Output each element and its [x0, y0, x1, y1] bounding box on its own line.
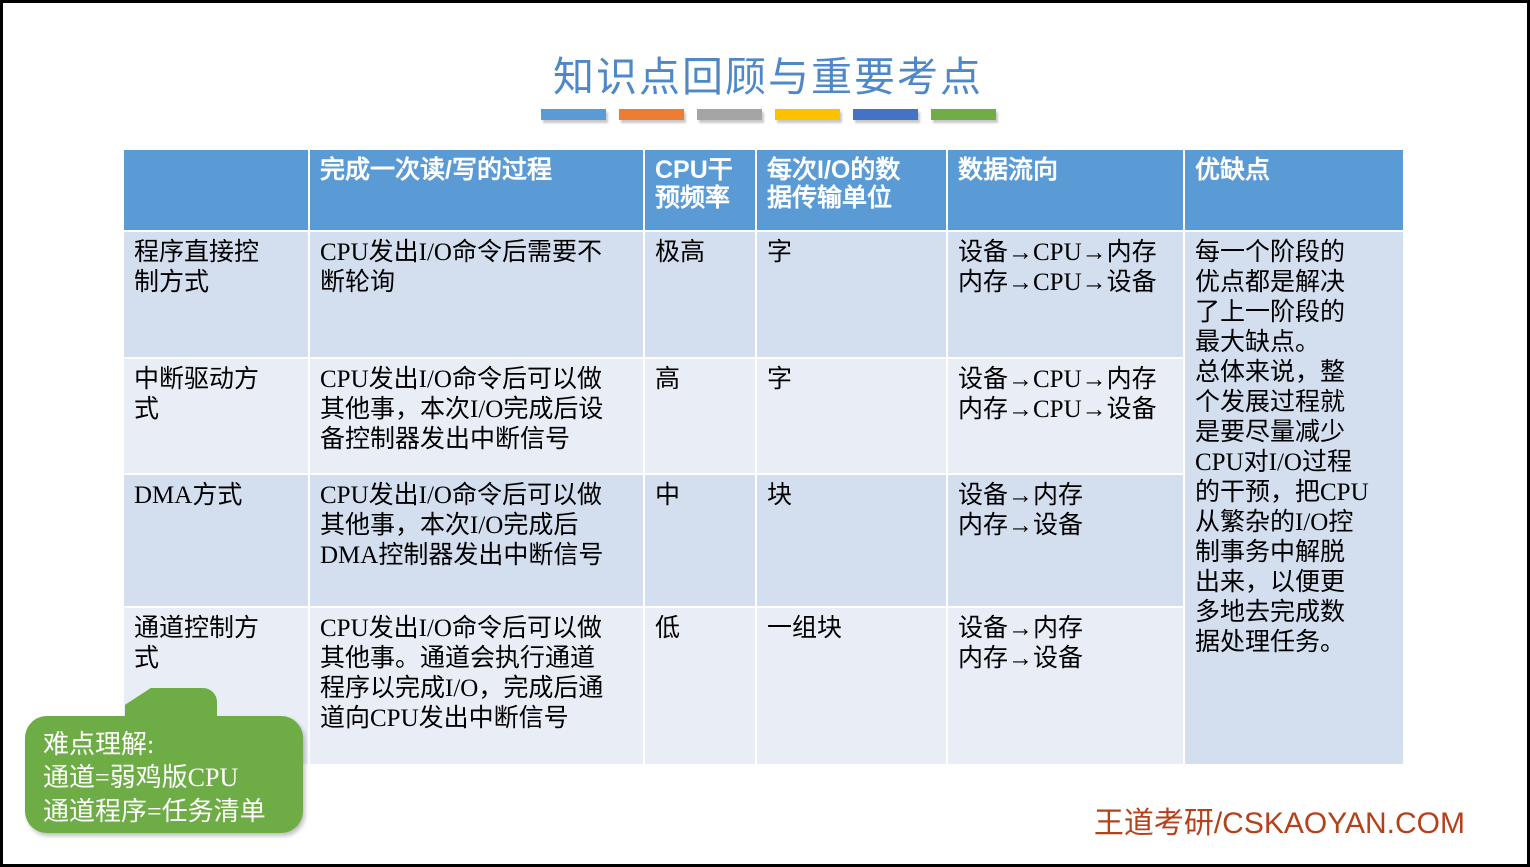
cell-mode: 程序直接控 制方式 — [123, 231, 309, 358]
cell-process: CPU发出I/O命令后可以做 其他事，本次I/O完成后设 备控制器发出中断信号 — [309, 358, 644, 474]
difficulty-callout: 难点理解: 通道=弱鸡版CPU 通道程序=任务清单 — [25, 716, 303, 833]
cell-notes-merged: 每一个阶段的 优点都是解决 了上一阶段的 最大缺点。 总体来说，整 个发展过程就… — [1184, 231, 1404, 765]
flow-line-1: 设备→CPU→内存 — [958, 365, 1175, 395]
cell-mode: DMA方式 — [123, 474, 309, 607]
cell-process: CPU发出I/O命令后需要不 断轮询 — [309, 231, 644, 358]
flow-line-2: 内存→设备 — [958, 511, 1175, 541]
cell-flow: 设备→内存 内存→设备 — [947, 474, 1184, 607]
cell-unit: 字 — [756, 358, 947, 474]
column-header-mode — [123, 149, 309, 231]
title-block: 知识点回顾与重要考点 — [3, 55, 1530, 120]
callout-text: 难点理解: 通道=弱鸡版CPU 通道程序=任务清单 — [43, 728, 266, 828]
cell-unit: 一组块 — [756, 607, 947, 765]
cell-flow: 设备→CPU→内存 内存→CPU→设备 — [947, 358, 1184, 474]
slide-canvas: 知识点回顾与重要考点 完成一次读/写的过程 CPU干 预频率 每次I/O的数 据… — [0, 0, 1530, 867]
cell-flow: 设备→内存 内存→设备 — [947, 607, 1184, 765]
cell-mode: 中断驱动方 式 — [123, 358, 309, 474]
flow-line-2: 内存→CPU→设备 — [958, 268, 1175, 298]
cell-process: CPU发出I/O命令后可以做 其他事，本次I/O完成后 DMA控制器发出中断信号 — [309, 474, 644, 607]
flow-line-1: 设备→内存 — [958, 614, 1175, 644]
column-header-unit: 每次I/O的数 据传输单位 — [756, 149, 947, 231]
cell-frequency: 高 — [644, 358, 756, 474]
accent-bar-yellow — [775, 109, 840, 120]
cell-unit: 字 — [756, 231, 947, 358]
column-header-process: 完成一次读/写的过程 — [309, 149, 644, 231]
flow-line-1: 设备→内存 — [958, 481, 1175, 511]
column-header-notes: 优缺点 — [1184, 149, 1404, 231]
accent-bar-gray — [697, 109, 762, 120]
cell-flow: 设备→CPU→内存 内存→CPU→设备 — [947, 231, 1184, 358]
cell-frequency: 极高 — [644, 231, 756, 358]
accent-bar-blue — [541, 109, 606, 120]
flow-line-2: 内存→CPU→设备 — [958, 395, 1175, 425]
cell-unit: 块 — [756, 474, 947, 607]
footer-brand: 王道考研/CSKAOYAN.COM — [1094, 798, 1465, 842]
accent-bar-group — [3, 109, 1530, 120]
accent-bar-navy — [853, 109, 918, 120]
flow-line-1: 设备→CPU→内存 — [958, 238, 1175, 268]
page-title: 知识点回顾与重要考点 — [3, 55, 1530, 100]
table-row: 程序直接控 制方式 CPU发出I/O命令后需要不 断轮询 极高 字 设备→CPU… — [123, 231, 1404, 358]
cell-process: CPU发出I/O命令后可以做 其他事。通道会执行通道 程序以完成I/O，完成后通… — [309, 607, 644, 765]
cell-frequency: 中 — [644, 474, 756, 607]
cell-frequency: 低 — [644, 607, 756, 765]
io-control-modes-table: 完成一次读/写的过程 CPU干 预频率 每次I/O的数 据传输单位 数据流向 优… — [122, 148, 1405, 766]
column-header-flow: 数据流向 — [947, 149, 1184, 231]
accent-bar-orange — [619, 109, 684, 120]
column-header-frequency: CPU干 预频率 — [644, 149, 756, 231]
table-header-row: 完成一次读/写的过程 CPU干 预频率 每次I/O的数 据传输单位 数据流向 优… — [123, 149, 1404, 231]
flow-line-2: 内存→设备 — [958, 644, 1175, 674]
accent-bar-green — [931, 109, 996, 120]
